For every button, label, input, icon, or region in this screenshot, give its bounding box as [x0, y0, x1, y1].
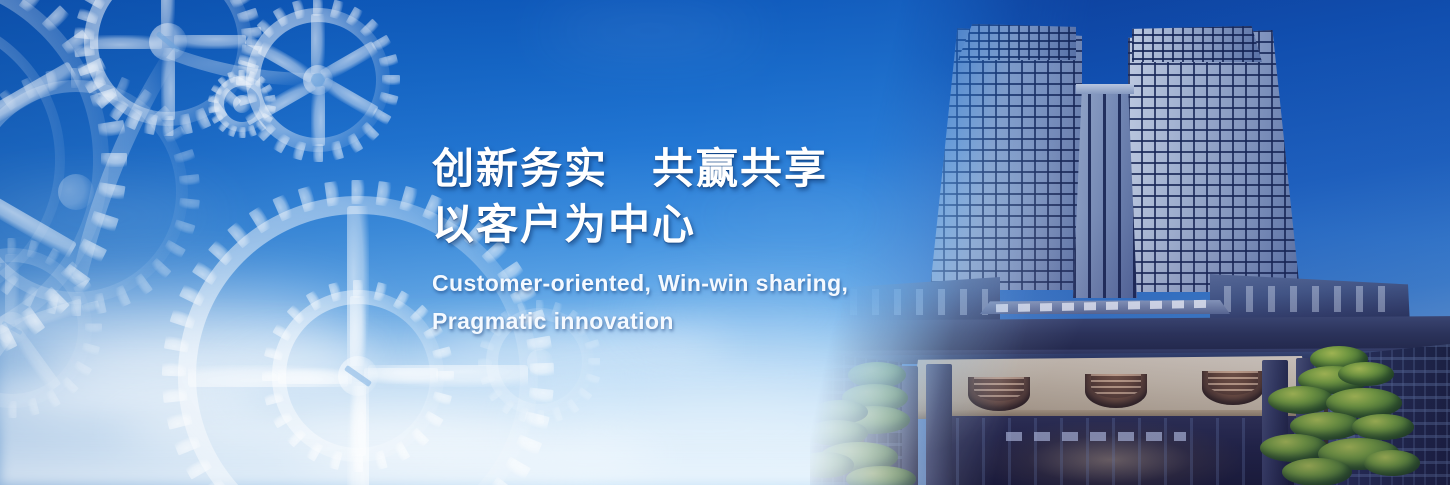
subhead-line-1: Customer-oriented, Win-win sharing,	[432, 264, 992, 302]
headline-line-2: 以客户为中心	[432, 197, 992, 253]
subhead-line-2: Pragmatic innovation	[432, 302, 992, 340]
hero-banner: 创新务实 共赢共享 以客户为中心 Customer-oriented, Win-…	[0, 0, 1450, 485]
headline-line-1: 创新务实 共赢共享	[432, 141, 992, 197]
gear-tiny	[208, 70, 276, 138]
banner-copy: 创新务实 共赢共享 以客户为中心 Customer-oriented, Win-…	[432, 141, 992, 340]
